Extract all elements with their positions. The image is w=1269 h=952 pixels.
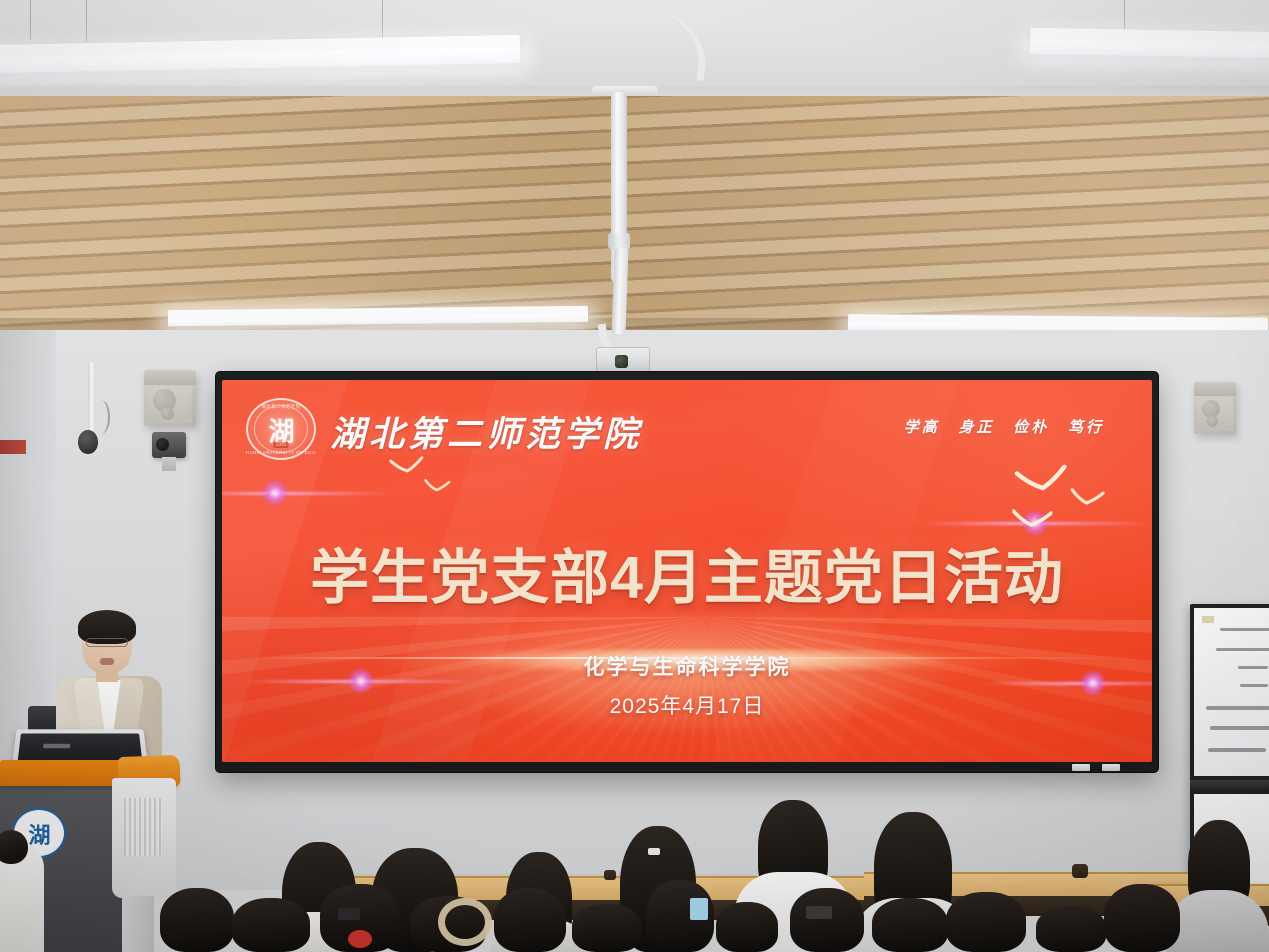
slide-title-block: 学生党支部4月主题党日活动 化学与生命科学学院 2025年4月17日	[222, 530, 1152, 720]
camera-lens-icon	[615, 355, 628, 368]
security-camera-lens-icon	[156, 438, 169, 451]
bench-knob	[1072, 864, 1088, 878]
lectern-vent	[124, 798, 162, 856]
ceiling-light-fixture	[1030, 28, 1269, 58]
audience-member	[160, 888, 234, 952]
audience-member	[716, 902, 778, 952]
wall-speaker-right	[1194, 382, 1236, 434]
microphone-icon	[78, 430, 98, 454]
motto-word-2: 身正	[958, 420, 994, 436]
audience-member	[0, 830, 28, 864]
audience-member	[872, 898, 948, 952]
slide-header: 湖北第二师范学院 湖 1931 HUBEI UNIVERSITY OF EDUC…	[222, 390, 1152, 452]
whiteboard-note-line	[1208, 748, 1266, 752]
presenter-mouth	[100, 658, 114, 665]
hair-clip-icon	[648, 848, 660, 855]
whiteboard-marker-tray	[1190, 780, 1269, 790]
emblem-arc-top-text: 湖北第二师范学院	[246, 404, 316, 410]
podium-monitor-indicator	[44, 744, 71, 748]
camera-pole-joint	[608, 233, 630, 249]
emblem-arc-bottom-text: HUBEI UNIVERSITY OF EDUCATION	[246, 450, 316, 455]
dove-icon	[1012, 509, 1053, 529]
light-hanger-wire	[86, 0, 87, 42]
whiteboard-note-line	[1216, 648, 1269, 651]
speaker-top	[144, 370, 196, 385]
slide-organization: 化学与生命科学学院	[222, 651, 1152, 681]
whiteboard-note-line	[1238, 666, 1268, 669]
hair-clip-icon	[338, 908, 360, 920]
hair-clip-icon	[806, 906, 832, 919]
university-emblem-icon: 湖北第二师范学院 湖 1931 HUBEI UNIVERSITY OF EDUC…	[246, 398, 316, 460]
audience-member	[946, 892, 1026, 952]
audience-member	[790, 888, 864, 952]
led-display-screen[interactable]: 湖北第二师范学院 湖 1931 HUBEI UNIVERSITY OF EDUC…	[216, 372, 1158, 772]
whiteboard-note-line	[1206, 706, 1269, 710]
whiteboard-note-line	[1240, 684, 1268, 687]
hair-clip-icon	[348, 930, 372, 948]
whiteboard-note-line	[1220, 628, 1269, 631]
university-motto: 学高 身正 俭朴 笃行	[904, 416, 1104, 437]
audience-member	[1104, 884, 1180, 952]
audience-member	[1036, 906, 1106, 952]
audience-member	[572, 904, 642, 952]
handbag	[438, 898, 492, 946]
slide-canvas: 湖北第二师范学院 湖 1931 HUBEI UNIVERSITY OF EDUC…	[222, 380, 1152, 762]
security-camera-mount	[162, 457, 176, 471]
microphone-cord	[92, 400, 110, 434]
lecture-hall-photo: 湖北第二师范学院 湖 1931 HUBEI UNIVERSITY OF EDUC…	[0, 0, 1269, 952]
wall-red-marker	[0, 440, 26, 454]
whiteboard-note-line	[1210, 726, 1269, 730]
wood-panel-shading	[0, 96, 1269, 336]
whiteboard-upper-panel	[1194, 608, 1269, 776]
emblem-year: 1931	[273, 442, 288, 448]
light-hanger-wire	[1124, 0, 1125, 30]
wall-speaker-left	[144, 370, 196, 426]
motto-word-3: 俭朴	[1013, 420, 1049, 436]
whiteboard-tag	[1202, 616, 1214, 623]
dove-icon	[424, 479, 451, 494]
university-name: 湖北第二师范学院	[330, 406, 642, 457]
dove-icon	[1069, 488, 1104, 507]
audience-member	[232, 898, 310, 952]
motto-word-1: 学高	[904, 420, 940, 436]
hair-clip-icon	[690, 898, 708, 920]
glasses-icon	[86, 638, 128, 647]
bench-knob	[604, 870, 616, 880]
audience-member	[494, 888, 566, 952]
slide-main-title: 学生党支部4月主题党日活动	[222, 530, 1152, 615]
light-hanger-wire	[30, 0, 31, 40]
screen-indicator-light	[1102, 764, 1120, 771]
screen-indicator-light	[1072, 764, 1090, 771]
speaker-top	[1194, 382, 1236, 396]
motto-word-4: 笃行	[1068, 420, 1104, 436]
lectern-leg	[122, 896, 154, 952]
slide-date: 2025年4月17日	[222, 690, 1152, 720]
